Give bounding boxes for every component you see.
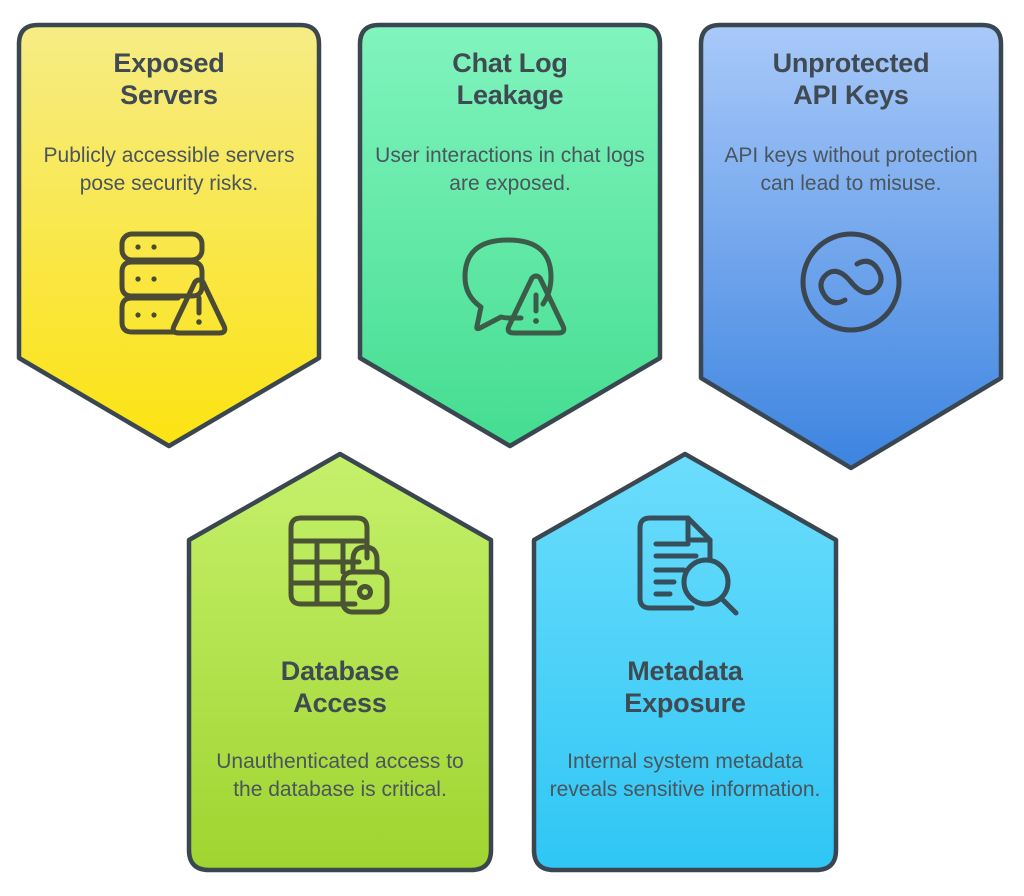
card-title-line: Exposure: [624, 688, 745, 720]
card-title-line: Chat Log: [452, 48, 567, 80]
server-warning-icon: [110, 226, 228, 338]
card-title-line: API Keys: [773, 80, 930, 112]
card-title-line: Unprotected: [773, 48, 930, 80]
card-title-line: Exposed: [113, 48, 224, 80]
card-title-line: Servers: [113, 80, 224, 112]
card-description: Internal system metadata reveals sensiti…: [546, 748, 824, 804]
card-database-access[interactable]: Database Access Unauthenticated access t…: [185, 450, 495, 874]
chat-bubble-warning-icon: [451, 226, 569, 338]
card-description: Publicly accessible servers pose securit…: [34, 142, 304, 198]
card-title-line: Database: [281, 656, 399, 688]
card-chat-log-leakage[interactable]: Chat Log Leakage User interactions in ch…: [357, 22, 663, 450]
card-title-line: Metadata: [624, 656, 745, 688]
table-lock-icon: [281, 510, 399, 622]
card-metadata-exposure[interactable]: Metadata Exposure Internal system metada…: [530, 450, 840, 874]
card-description: Unauthenticated access to the database i…: [201, 748, 479, 804]
card-title: Chat Log Leakage: [452, 48, 567, 112]
card-title-line: Leakage: [452, 80, 567, 112]
card-description: User interactions in chat logs are expos…: [375, 142, 645, 198]
api-key-link-circle-icon: [792, 226, 910, 338]
card-description: API keys without protection can lead to …: [716, 142, 986, 198]
card-title: Database Access: [281, 656, 399, 720]
document-search-icon: [626, 510, 744, 622]
card-title-line: Access: [281, 688, 399, 720]
card-unprotected-api-keys[interactable]: Unprotected API Keys API keys without pr…: [698, 22, 1004, 472]
card-title: Unprotected API Keys: [773, 48, 930, 112]
infographic-canvas: Exposed Servers Publicly accessible serv…: [0, 0, 1024, 896]
card-title: Metadata Exposure: [624, 656, 745, 720]
card-exposed-servers[interactable]: Exposed Servers Publicly accessible serv…: [16, 22, 322, 450]
card-title: Exposed Servers: [113, 48, 224, 112]
